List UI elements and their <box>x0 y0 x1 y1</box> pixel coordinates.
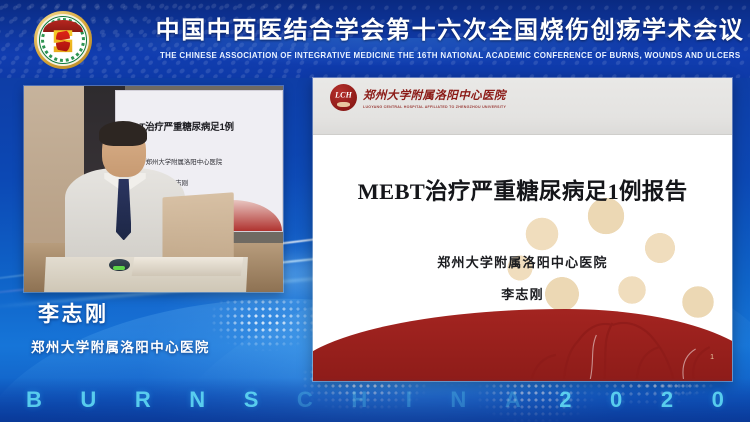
wordmark-letter: 2 <box>559 387 571 413</box>
speaker-organization-caption: 郑州大学附属洛阳中心医院 <box>31 336 210 356</box>
hospital-logo-icon: LCH <box>330 84 357 111</box>
slide-title: MEBT治疗严重糖尿病足1例报告 <box>313 174 732 206</box>
presentation-slide[interactable]: LCH 郑州大学附属洛阳中心医院 LUOYANG CENTRAL HOSPITA… <box>313 78 732 381</box>
wordmark-letter: 0 <box>610 387 622 413</box>
wordmark-letter: S <box>244 387 259 413</box>
wordmark-letter: B <box>26 387 42 413</box>
wordmark-letter: 2 <box>661 387 673 413</box>
wordmark-letter: I <box>406 387 412 413</box>
wordmark-letter: U <box>80 387 96 413</box>
conference-title-chinese: 中国中西医结合学会第十六次全国烧伤创疡学术会议 <box>156 18 745 44</box>
slide-header-bar: LCH 郑州大学附属洛阳中心医院 LUOYANG CENTRAL HOSPITA… <box>313 78 732 135</box>
slide-page-number: 1 <box>710 354 714 361</box>
event-wordmark: BURNSCHINA2020 <box>0 387 750 413</box>
wordmark-letter: H <box>351 387 367 413</box>
speaker-video-panel[interactable]: MEBT治疗严重糖尿病足1例 郑州大学附属洛阳中心医院 李志刚 <box>24 86 283 292</box>
header-titles: 中国中西医结合学会第十六次全国烧伤创疡学术会议 THE CHINESE ASSO… <box>150 0 750 78</box>
hospital-name-chinese: 郑州大学附属洛阳中心医院 <box>363 87 506 103</box>
hospital-logo: LCH 郑州大学附属洛阳中心医院 LUOYANG CENTRAL HOSPITA… <box>330 84 506 111</box>
s-emblem-icon <box>52 28 74 54</box>
slide-affiliation: 郑州大学附属洛阳中心医院 <box>313 252 732 271</box>
conference-header-banner: 中国中西医结合学会第十六次全国烧伤创疡学术会议 THE CHINESE ASSO… <box>0 0 750 78</box>
wordmark-letter: N <box>189 387 205 413</box>
footer-band: BURNSCHINA2020 <box>0 378 750 422</box>
wordmark-letter: 0 <box>712 387 724 413</box>
conference-title-english: THE CHINESE ASSOCIATION OF INTEGRATIVE M… <box>160 51 740 60</box>
speaker-name-caption: 李志刚 <box>38 298 109 328</box>
wordmark-letter: R <box>135 387 151 413</box>
hospital-logo-mark: LCH <box>335 91 352 100</box>
hospital-name-english: LUOYANG CENTRAL HOSPITAL AFFILIATED TO Z… <box>363 105 506 109</box>
wordmark-letter: A <box>505 387 521 413</box>
wordmark-letter: C <box>297 387 313 413</box>
broadcast-stage: 中国中西医结合学会第十六次全国烧伤创疡学术会议 THE CHINESE ASSO… <box>0 0 750 422</box>
wordmark-letter: N <box>450 387 466 413</box>
vascular-illustration <box>485 295 728 379</box>
video-vignette <box>24 86 283 292</box>
association-logo-icon <box>34 11 92 69</box>
